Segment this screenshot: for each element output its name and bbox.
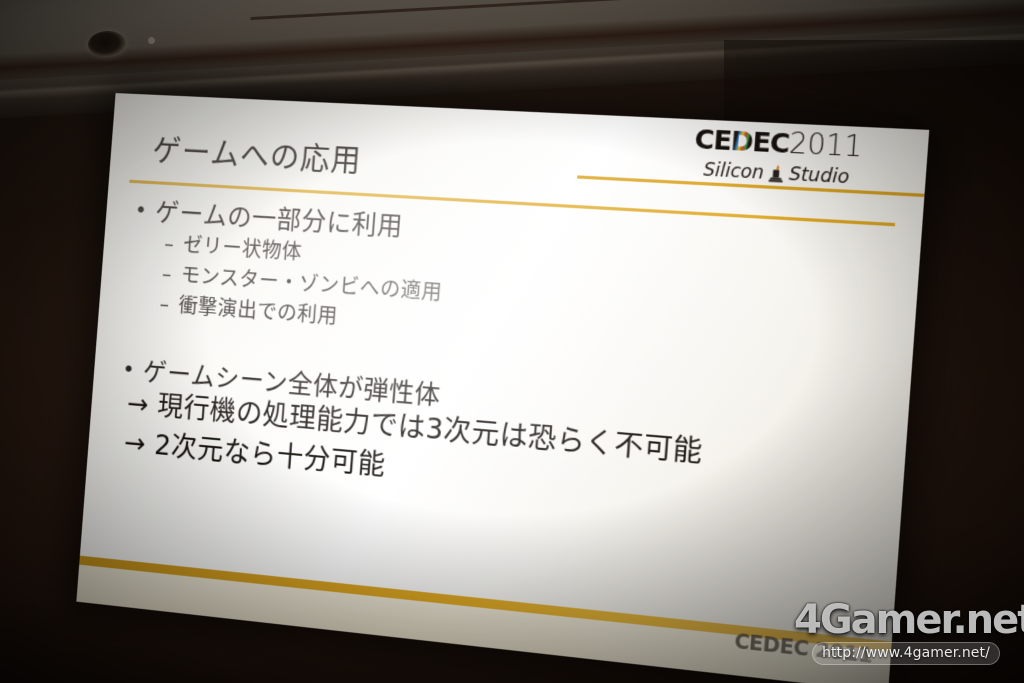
footer-pale-band xyxy=(76,565,891,683)
projection-screen: CEDEC2011 Silicon Studio xyxy=(76,93,929,683)
cedec-logo: CEDEC2011 xyxy=(658,124,902,164)
cedec-logo-year: 2011 xyxy=(788,128,864,164)
slide-title: ゲームへの応用 xyxy=(151,125,363,180)
bullet-text: ゼリー状物体 xyxy=(182,232,302,264)
silicon-studio-word-left: Silicon xyxy=(703,159,765,184)
bullet-marker-dash: – xyxy=(159,289,180,321)
branding-block: CEDEC2011 Silicon Studio xyxy=(656,124,902,190)
bullet-marker-dot: • xyxy=(121,357,144,385)
cedec-logo-ec: EC xyxy=(751,126,790,159)
slide-footer: CEDEC 2011 xyxy=(76,556,891,683)
photo-stage: CEDEC2011 Silicon Studio xyxy=(0,0,1024,683)
candle-flame-icon xyxy=(767,164,785,183)
bullet-marker-dash: – xyxy=(163,228,184,260)
bullet-marker-dash: – xyxy=(161,258,182,290)
silicon-studio-word-right: Studio xyxy=(788,164,850,189)
cedec-logo-ce: CE xyxy=(694,124,732,157)
bullet-marker-dot: • xyxy=(134,198,157,225)
cedec-logo-d-chip: D xyxy=(730,127,754,155)
presentation-slide: CEDEC2011 Silicon Studio xyxy=(76,93,929,683)
projection-screen-wrapper: CEDEC2011 Silicon Studio xyxy=(0,0,1024,683)
slide-body: •ゲームの一部分に利用 –ゼリー状物体 –モンスター・ゾンビへの適用 –衝撃演出… xyxy=(115,196,900,532)
